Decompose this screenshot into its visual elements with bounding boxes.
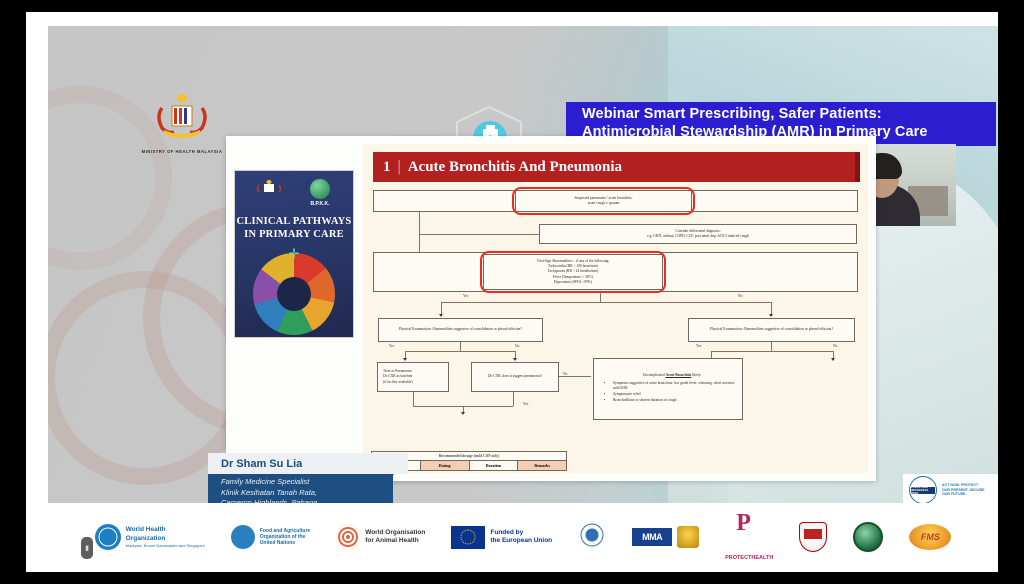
screen-share-window: MINISTRY OF HEALTH MALAYSIA + Webinar Sm…: [0, 0, 1024, 584]
table-col-duration: Duration: [470, 461, 519, 470]
bpkk-label: B.P.K.K.: [303, 201, 337, 207]
fao-line3: United Nations: [260, 540, 310, 546]
branch-label-yes: Yes: [696, 344, 701, 348]
webinar-title-line1: Webinar Smart Prescribing, Safer Patient…: [582, 106, 882, 122]
bpkk-logo: B.P.K.K.: [303, 179, 337, 207]
booklet-crest-icon: [255, 179, 283, 196]
logo-family-medicine-specialist-association: FMS: [909, 524, 951, 550]
connector-line: [413, 392, 414, 406]
logo-food-and-agriculture-organization: Food and Agriculture Organization of the…: [231, 525, 310, 549]
who-icon: [95, 524, 121, 550]
connector-line: [771, 342, 772, 351]
logo-world-health-organization: World Health Organization Malaysia, Brun…: [95, 524, 205, 550]
who-line1: World Health: [126, 526, 205, 534]
who-line2: Organization: [126, 535, 205, 543]
connector-line: [441, 302, 771, 303]
connector-line: [559, 376, 591, 377]
section-number: 1: [383, 159, 391, 176]
who-caption: World Health Organization Malaysia, Brun…: [126, 526, 205, 547]
waaw-tagline: ACT NOW. PROTECT OUR PRESENT. SECURE OUR…: [942, 483, 985, 498]
eu-caption: Funded by the European Union: [490, 529, 552, 545]
branch-label-yes: Yes: [523, 402, 528, 406]
caring-hands-icon: ✛: [289, 246, 300, 262]
bronchitis-bullet-2: Symptomatic relief: [613, 392, 739, 397]
bronchitis-title-post: likely:: [691, 373, 701, 377]
lower-third-corner: [368, 474, 394, 503]
partner-logo-strip: World Health Organization Malaysia, Brun…: [48, 509, 998, 565]
mma-crest-icon: [677, 526, 699, 548]
connector-line: [460, 342, 461, 351]
logo-protecthealth: PROTECTHEALTH: [725, 514, 773, 561]
connector-line: [419, 234, 539, 235]
woah-caption: World Organisation for Animal Health: [365, 529, 425, 545]
branch-label-no: No: [738, 294, 742, 298]
clinical-pathway-flowchart: 1 | Acute Bronchitis And Pneumonia Suspe…: [363, 144, 868, 473]
presenter-name-bar: Dr Sham Su Lia: [208, 453, 408, 474]
branch-label-no: No: [515, 344, 519, 348]
logo-malaysian-medical-council: [799, 522, 827, 552]
bronchitis-bullet-list: Symptoms suggestive of acute bronchitis:…: [605, 381, 739, 405]
flow-box-physical-exam-left: Physical Examination: Abnormalities sugg…: [378, 318, 543, 342]
mma-icon: MMA: [632, 528, 672, 546]
arrow-icon: [513, 358, 517, 361]
eu-line2: the European Union: [490, 537, 552, 545]
arrow-icon: [461, 412, 465, 415]
bronchitis-title-pre: Uncomplicated: [643, 373, 666, 377]
fms-icon: FMS: [909, 524, 951, 550]
presenter-details-bar: Family Medicine Specialist Klinik Kesiha…: [208, 474, 393, 503]
flow-box-physical-exam-right: Physical Examination: Abnormalities sugg…: [688, 318, 855, 342]
flow-box-acute-bronchitis: Uncomplicated Acute Bronchitis likely: S…: [593, 358, 743, 420]
pathway-wheel-graphic: [253, 253, 335, 335]
table-col-dosing: Dosing: [421, 461, 470, 470]
presenter-name: Dr Sham Su Lia: [221, 458, 302, 470]
logo-world-organisation-for-animal-health: World Organisation for Animal Health: [336, 525, 425, 549]
side-toggle-button[interactable]: ▮: [81, 537, 93, 559]
bronchitis-bullet-3: Bronchodilator to shorten duration of co…: [613, 398, 739, 403]
crest-mini-icon: [255, 179, 283, 195]
toggle-glyph: ▮: [85, 544, 89, 552]
eu-line1: Funded by: [490, 529, 552, 537]
connector-line: [711, 351, 833, 352]
flow-box-cxr-question: Do CXR, does it suggest pneumonia?: [471, 362, 559, 392]
connector-line: [405, 351, 515, 352]
slide-section-header: 1 | Acute Bronchitis And Pneumonia: [373, 152, 860, 182]
malaysia-crest-icon: [150, 92, 214, 140]
woah-icon: [336, 525, 360, 549]
arrow-icon: [831, 358, 835, 361]
flow-box-vital-signs: Vital Sign Abnormalities – if any of the…: [483, 254, 663, 290]
branch-label-yes: Yes: [463, 294, 468, 298]
presentation-slide: B.P.K.K. CLINICAL PATHWAYS IN PRIMARY CA…: [226, 136, 876, 481]
waaw-seal-icon: WORLD AMR AWARENESS WEEK: [909, 476, 937, 503]
section-title: Acute Bronchitis And Pneumonia: [408, 159, 622, 176]
shared-screen-viewport: MINISTRY OF HEALTH MALAYSIA + Webinar Sm…: [48, 26, 998, 503]
mmc-crest-icon: [799, 522, 827, 552]
bronchitis-title: Uncomplicated Acute Bronchitis likely:: [605, 373, 739, 378]
protecthealth-icon: [736, 514, 762, 540]
eu-flag-icon: [451, 526, 485, 549]
bpkk-globe-icon: [310, 179, 330, 199]
logo-global-health-body: [853, 522, 883, 552]
booklet-title-line1: CLINICAL PATHWAYS: [237, 216, 352, 227]
treat-line-3: (if facility available): [383, 380, 445, 385]
fao-caption: Food and Agriculture Organization of the…: [260, 528, 310, 547]
who-sub: Malaysia, Brunei Darussalam and Singapor…: [126, 543, 205, 548]
logo-malaysian-medical-association: MMA: [632, 526, 699, 548]
waaw-tagline-3: OUR FUTURE.: [942, 492, 985, 497]
bronchitis-title-bold: Acute Bronchitis: [665, 373, 691, 377]
globe-icon: [853, 522, 883, 552]
flow-box-differential: Consider differential diagnosis: e.g. UR…: [539, 224, 857, 244]
fao-icon: [231, 525, 255, 549]
quadripartite-icon: [578, 524, 606, 550]
waaw-badge: WORLD AMR AWARENESS WEEK ACT NOW. PROTEC…: [903, 474, 998, 503]
arrow-icon: [403, 358, 407, 361]
arrow-icon: [769, 314, 773, 317]
meeting-page: MINISTRY OF HEALTH MALAYSIA + Webinar Sm…: [26, 12, 998, 572]
ministry-of-health-logo: MINISTRY OF HEALTH MALAYSIA: [134, 92, 230, 154]
connector-line: [600, 292, 601, 302]
branch-label-no: No: [833, 344, 837, 348]
flow-box-treat-pneumonia: Treat as Pneumonia Do CXR as baseline (i…: [377, 362, 449, 392]
logo-quadripartite: [578, 524, 606, 550]
table-col-remarks: Remarks: [518, 461, 566, 470]
differential-body: e.g. URTI, asthma, COPD, CCF, post nasal…: [647, 234, 749, 239]
fao-line1: Food and Agriculture: [260, 528, 310, 534]
seal-text: WORLD AMR AWARENESS WEEK: [910, 486, 936, 495]
logo-european-union: Funded by the European Union: [451, 526, 552, 549]
woah-line1: World Organisation: [365, 529, 425, 537]
booklet-title-line2: IN PRIMARY CARE: [244, 229, 344, 240]
connector-line: [513, 392, 514, 406]
branch-label-yes: Yes: [389, 344, 394, 348]
moh-caption: MINISTRY OF HEALTH MALAYSIA: [134, 149, 230, 154]
protecthealth-caption: PROTECTHEALTH: [725, 555, 773, 561]
section-divider: |: [398, 158, 401, 176]
booklet-title: CLINICAL PATHWAYS IN PRIMARY CARE: [235, 215, 353, 241]
arrow-icon: [439, 314, 443, 317]
booklet-cover-image: B.P.K.K. CLINICAL PATHWAYS IN PRIMARY CA…: [234, 170, 354, 338]
flow-box-suspected: Suspected pneumonia / acute bronchitis: …: [515, 190, 692, 212]
vital-4: Hypoxemia (SPO2 <95%): [554, 280, 592, 285]
woah-line2: for Animal Health: [365, 537, 425, 545]
bronchitis-bullet-1: Symptoms suggestive of acute bronchitis:…: [613, 381, 739, 391]
